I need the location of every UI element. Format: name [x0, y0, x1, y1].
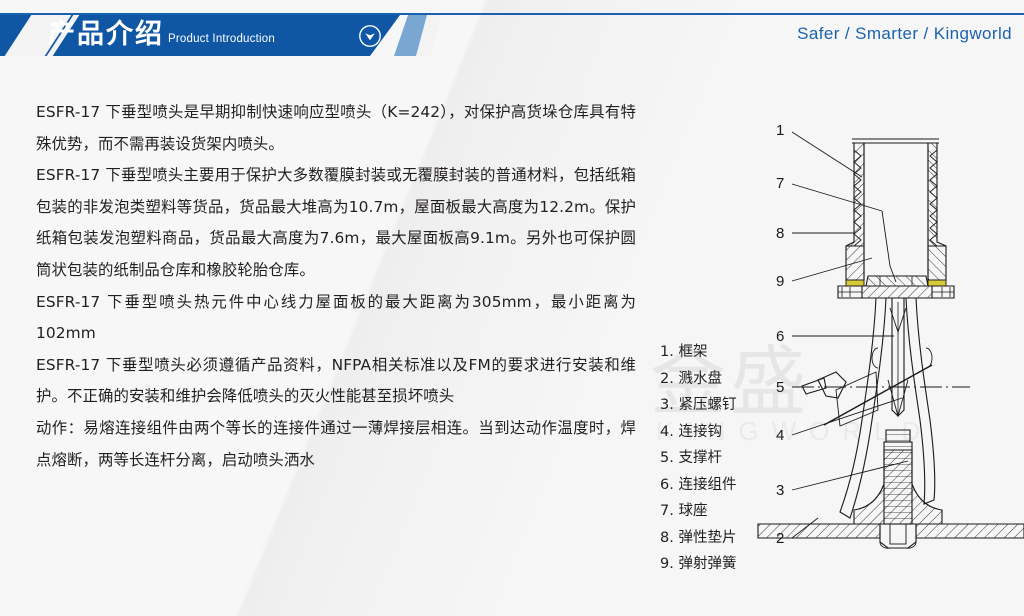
- sprinkler-cross-section-svg: [640, 80, 1024, 600]
- product-description: ESFR-17 下垂型喷头是早期抑制快速响应型喷头（K=242），对保护高货垛仓…: [36, 97, 636, 476]
- leader-number-7: 7: [776, 175, 784, 192]
- page-title: 产品介绍: [48, 17, 164, 53]
- leader-number-1: 1: [776, 122, 784, 139]
- brand-slogan: Safer / Smarter / Kingworld: [797, 24, 1012, 44]
- leader-number-2: 2: [776, 530, 784, 547]
- leader-number-5: 5: [776, 379, 784, 396]
- leader-number-8: 8: [776, 225, 784, 242]
- leader-number-4: 4: [776, 427, 784, 444]
- leader-number-3: 3: [776, 482, 784, 499]
- page-subtitle: Product Introduction: [168, 33, 275, 45]
- leader-number-6: 6: [776, 328, 784, 345]
- page-header: 产品介绍 Product Introduction Safer / Smarte…: [0, 0, 1024, 70]
- sprinkler-diagram: 1 7 8 9 6 5 4 3 2: [640, 80, 1024, 600]
- header-top-rule: [0, 13, 1024, 15]
- product-introduction-page: 产品介绍 Product Introduction Safer / Smarte…: [0, 0, 1024, 616]
- chevron-down-circle-icon[interactable]: [358, 24, 382, 48]
- leader-number-9: 9: [776, 273, 784, 290]
- paragraph: ESFR-17 下垂型喷头热元件中心线力屋面板的最大距离为305mm，最小距离为…: [36, 287, 636, 350]
- paragraph: ESFR-17 下垂型喷头是早期抑制快速响应型喷头（K=242），对保护高货垛仓…: [36, 97, 636, 160]
- paragraph: ESFR-17 下垂型喷头主要用于保护大多数覆膜封装或无覆膜封装的普通材料，包括…: [36, 160, 636, 286]
- paragraph: ESFR-17 下垂型喷头必须遵循产品资料，NFPA相关标准以及FM的要求进行安…: [36, 350, 636, 413]
- paragraph: 动作：易熔连接组件由两个等长的连接件通过一薄焊接层相连。当到达动作温度时，焊点熔…: [36, 413, 636, 476]
